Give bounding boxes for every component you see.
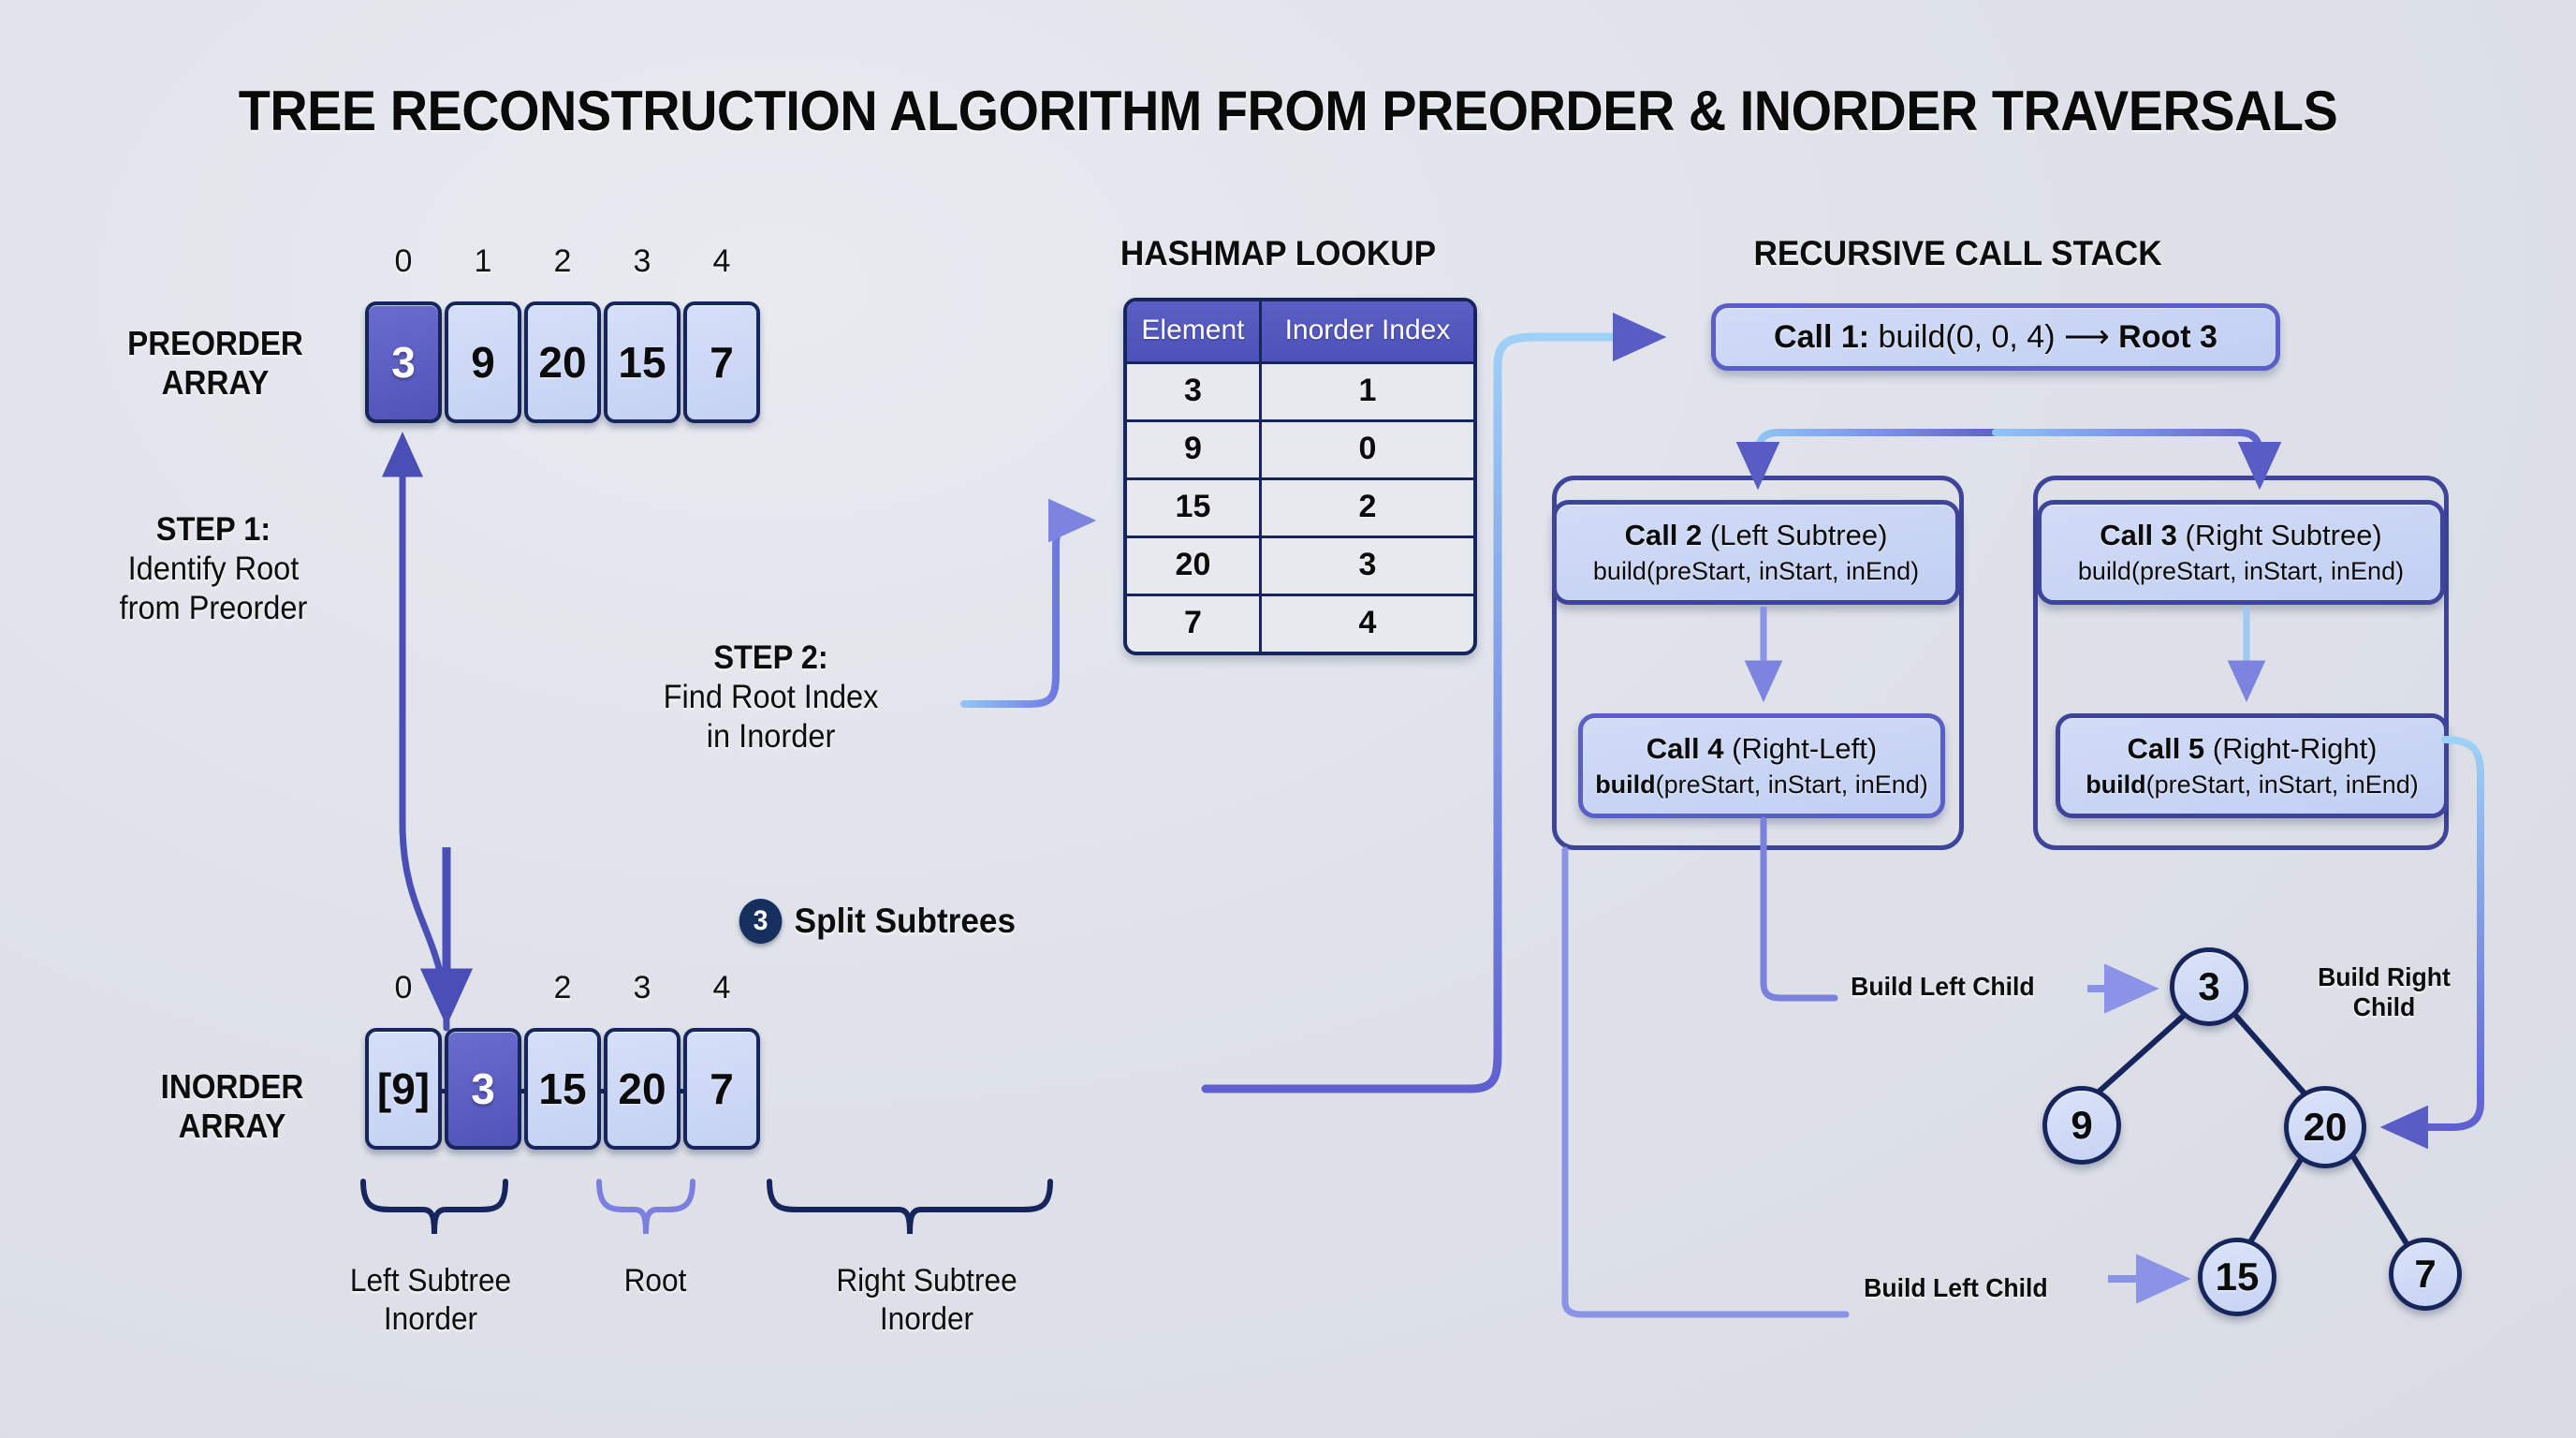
- arrowhead-layer: [0, 0, 2576, 1438]
- diagram-canvas: TREE RECONSTRUCTION ALGORITHM FROM PREOR…: [0, 0, 2576, 1438]
